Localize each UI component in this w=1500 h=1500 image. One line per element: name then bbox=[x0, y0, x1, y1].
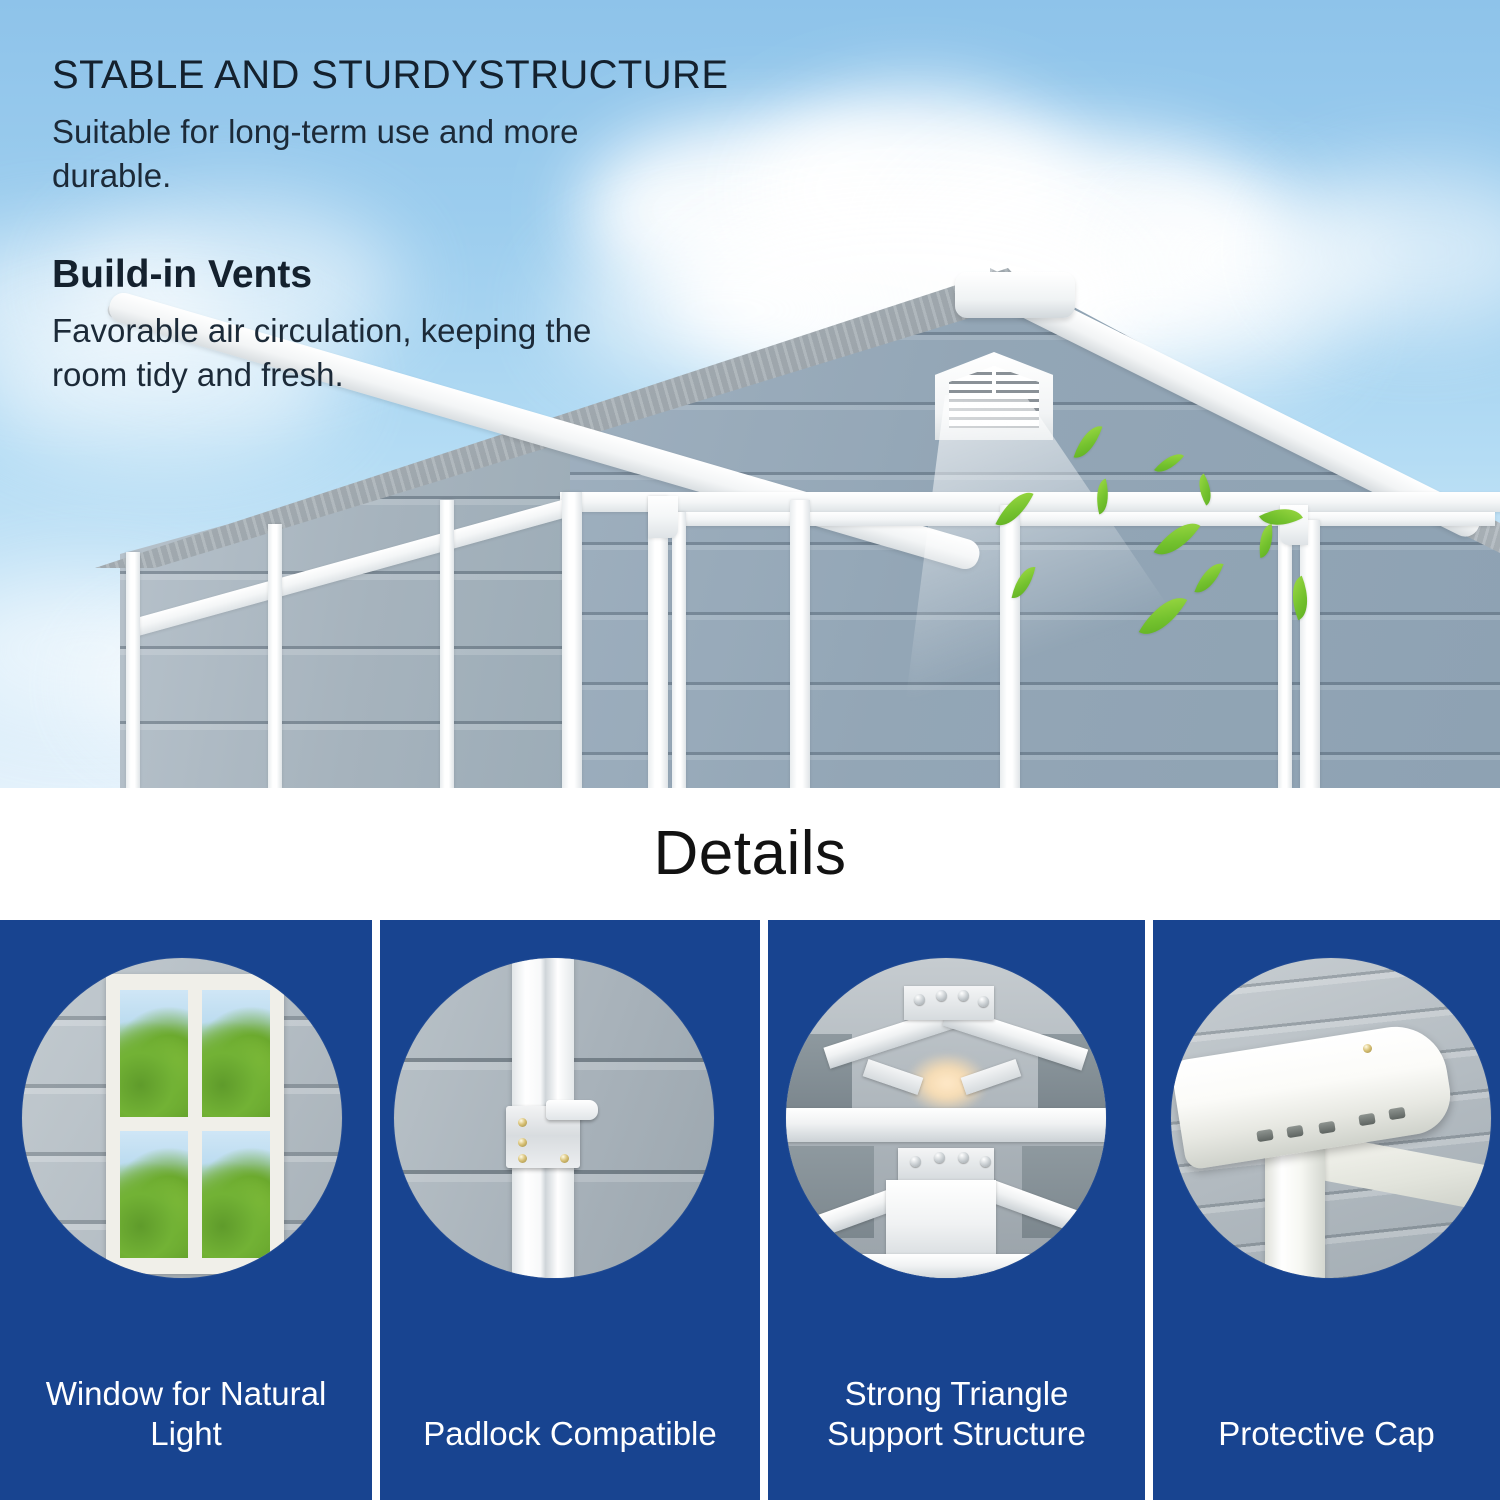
details-title-band: Details bbox=[0, 788, 1500, 920]
shed-door-post-right bbox=[1000, 505, 1020, 788]
details-panel-grid: Window for Natural Light Padlock Compati… bbox=[0, 920, 1500, 1500]
shed-post-right bbox=[1278, 512, 1292, 788]
screw-icon bbox=[518, 1154, 527, 1163]
screw-icon bbox=[560, 1154, 569, 1163]
shed-door-post-left bbox=[562, 492, 582, 788]
feature-1-body: Suitable for long-term use and more dura… bbox=[52, 110, 692, 197]
detail-panel-padlock[interactable]: Padlock Compatible bbox=[380, 920, 760, 1500]
shed-ridge-cap bbox=[955, 272, 1075, 318]
detail-panel-truss[interactable]: Strong Triangle Support Structure bbox=[768, 920, 1145, 1500]
screw-icon bbox=[1363, 1044, 1372, 1053]
window-pane bbox=[202, 1131, 270, 1258]
detail-caption-cap: Protective Cap bbox=[1153, 1414, 1500, 1454]
detail-panel-cap[interactable]: Protective Cap bbox=[1153, 920, 1500, 1500]
feature-1-heading: STABLE AND STURDYSTRUCTURE bbox=[52, 52, 752, 99]
padlock-hasp-arm bbox=[546, 1100, 598, 1120]
shed-post-2 bbox=[268, 524, 282, 788]
shed-door-header-rail bbox=[655, 512, 1495, 526]
shed-corner-post-left bbox=[126, 552, 140, 788]
protective-cap-icon bbox=[1171, 1019, 1456, 1170]
details-title: Details bbox=[653, 823, 846, 885]
louver-vent-spine bbox=[992, 366, 996, 396]
hero-section: STABLE AND STURDYSTRUCTURE Suitable for … bbox=[0, 0, 1500, 788]
detail-panel-window[interactable]: Window for Natural Light bbox=[0, 920, 372, 1500]
detail-caption-truss: Strong Triangle Support Structure bbox=[768, 1374, 1145, 1455]
shed-door-seam bbox=[672, 512, 686, 788]
window-frame bbox=[106, 974, 284, 1274]
padlock-latch-photo bbox=[394, 958, 714, 1278]
hero-feature-block-2: Build-in Vents Favorable air circulation… bbox=[52, 252, 712, 397]
detail-caption-window: Window for Natural Light bbox=[0, 1374, 372, 1455]
feature-2-body: Favorable air circulation, keeping the r… bbox=[52, 309, 652, 397]
cap-support-post bbox=[1265, 1136, 1325, 1278]
screw-icon bbox=[518, 1118, 527, 1127]
window-pane bbox=[120, 990, 188, 1117]
truss-tie-beam bbox=[786, 1108, 1106, 1142]
shed-door-jamb-left bbox=[648, 496, 668, 788]
truss-tie-beam bbox=[786, 1254, 1106, 1278]
feature-2-heading: Build-in Vents bbox=[52, 252, 712, 298]
detail-caption-padlock: Padlock Compatible bbox=[380, 1414, 760, 1454]
shed-corner-post-right bbox=[1300, 520, 1320, 788]
shed-door-post-mid bbox=[790, 500, 810, 788]
hero-feature-block-1: STABLE AND STURDYSTRUCTURE Suitable for … bbox=[52, 52, 752, 197]
window-photo bbox=[22, 958, 342, 1278]
protective-cap-photo bbox=[1171, 958, 1491, 1278]
cap-roof-beam bbox=[1321, 1134, 1491, 1214]
shed-door-corner-block-left bbox=[648, 496, 678, 538]
window-pane bbox=[120, 1131, 188, 1258]
shed-post-3 bbox=[440, 500, 454, 788]
roof-truss-photo bbox=[786, 958, 1106, 1278]
screw-icon bbox=[518, 1138, 527, 1147]
window-pane bbox=[202, 990, 270, 1117]
